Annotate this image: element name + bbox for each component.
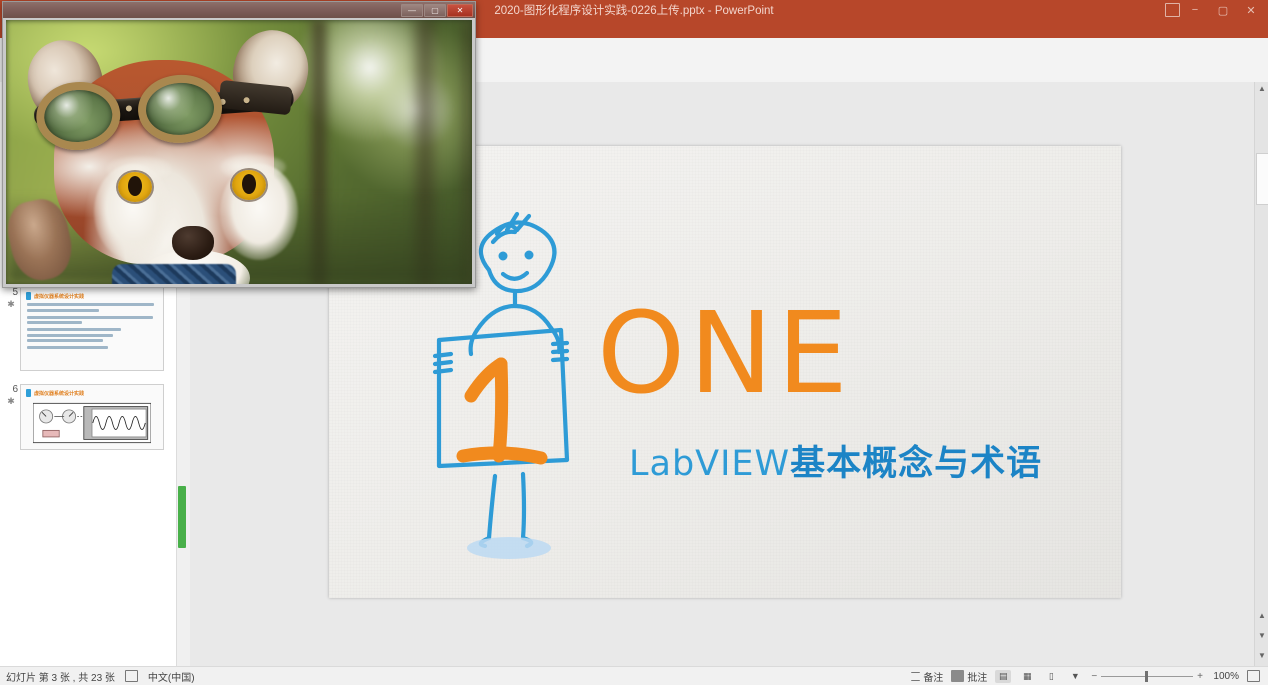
red-panda-character: [20, 24, 320, 284]
goggles-lens-right: [136, 72, 225, 146]
status-left: 幻灯片 第 3 张 , 共 23 张 中文(中国): [0, 669, 195, 684]
next-slide-button[interactable]: ▼: [1256, 650, 1268, 662]
accessibility-icon[interactable]: [125, 670, 138, 682]
panda-scarf: [112, 264, 236, 284]
zoom-level-label[interactable]: 100%: [1211, 671, 1239, 682]
thumbnail-card[interactable]: 虚拟仪器系统设计实践: [20, 384, 164, 450]
slide-area-scrollbar[interactable]: ▲ ▲ ▼ ▼: [1254, 82, 1268, 666]
video-window-controls: — ▢ ✕: [401, 4, 473, 17]
thumbnail-body: [27, 303, 158, 366]
notes-label: 备注: [923, 669, 943, 684]
video-player-window[interactable]: — ▢ ✕: [2, 1, 476, 288]
video-close-button[interactable]: ✕: [447, 4, 473, 17]
slide-sorter-view-button[interactable]: ▦: [1019, 670, 1035, 683]
ribbon-display-options-icon[interactable]: [1165, 3, 1180, 17]
slide-headline-one: ONE: [597, 298, 852, 410]
comments-icon: [951, 670, 964, 682]
minimize-button[interactable]: −: [1182, 1, 1208, 19]
thumbnail-number: 5: [4, 287, 18, 298]
slide-subtitle: LabVIEW基本概念与术语: [629, 446, 1042, 482]
status-right: 备注 批注 ▤ ▦ ▯ ▼ − + 100%: [911, 669, 1268, 684]
video-minimize-button[interactable]: —: [401, 4, 423, 17]
labview-logo-icon: [26, 292, 31, 300]
video-maximize-button[interactable]: ▢: [424, 4, 446, 17]
zoom-track[interactable]: [1101, 676, 1193, 677]
panda-eye-left: [118, 172, 152, 202]
zoom-slider[interactable]: − +: [1091, 671, 1203, 682]
panda-pupil: [128, 176, 142, 196]
window-controls: − ▢ ✕: [1165, 0, 1264, 20]
scroll-down-button[interactable]: ▼: [1256, 630, 1268, 642]
slide-subtitle-en: LabVIEW: [629, 444, 790, 484]
previous-slide-button[interactable]: ▲: [1256, 610, 1268, 622]
thumbnail-number: 6: [4, 384, 18, 395]
close-button[interactable]: ✕: [1238, 1, 1264, 19]
panda-pupil: [242, 174, 256, 194]
panda-eye-right: [232, 170, 266, 200]
zoom-knob[interactable]: [1145, 671, 1148, 682]
thumbnail-title-row: 虚拟仪器系统设计实践: [26, 389, 159, 397]
reading-view-button[interactable]: ▯: [1043, 670, 1059, 683]
video-window-title-bar[interactable]: — ▢ ✕: [3, 2, 475, 18]
thumbnail-title: 虚拟仪器系统设计实践: [34, 293, 84, 300]
slideshow-view-button[interactable]: ▼: [1067, 670, 1083, 683]
zoom-in-button[interactable]: +: [1197, 671, 1203, 682]
labview-logo-icon: [26, 389, 31, 397]
thumbnail-title-row: 虚拟仪器系统设计实践: [26, 292, 159, 300]
goggles-lens-left: [34, 79, 123, 153]
animation-star-icon: ✱: [5, 396, 17, 407]
slide-count-label[interactable]: 幻灯片 第 3 张 , 共 23 张: [6, 669, 115, 684]
zoom-out-button[interactable]: −: [1091, 671, 1097, 682]
slide-subtitle-cn: 基本概念与术语: [790, 444, 1042, 483]
notes-button[interactable]: 备注: [911, 669, 943, 684]
notes-icon: [911, 672, 920, 681]
thumbnail-card[interactable]: 虚拟仪器系统设计实践: [20, 287, 164, 371]
scroll-up-button[interactable]: ▲: [1256, 83, 1268, 95]
normal-view-button[interactable]: ▤: [995, 670, 1011, 683]
language-label[interactable]: 中文(中国): [148, 669, 195, 684]
thumbnail-pane-scroll-thumb[interactable]: [178, 486, 186, 548]
maximize-button[interactable]: ▢: [1210, 1, 1236, 19]
scrollbar-thumb[interactable]: [1256, 153, 1268, 205]
status-bar: 幻灯片 第 3 张 , 共 23 张 中文(中国) 备注 批注 ▤ ▦ ▯ ▼ …: [0, 666, 1268, 685]
animation-star-icon: ✱: [5, 299, 17, 310]
comments-label: 批注: [967, 669, 987, 684]
thumbnail-title: 虚拟仪器系统设计实践: [34, 390, 84, 397]
panda-nose: [172, 226, 214, 260]
labview-front-panel-preview: [33, 401, 151, 445]
comments-button[interactable]: 批注: [951, 669, 987, 684]
fit-to-window-icon[interactable]: [1247, 670, 1260, 682]
video-surface[interactable]: [6, 20, 472, 284]
